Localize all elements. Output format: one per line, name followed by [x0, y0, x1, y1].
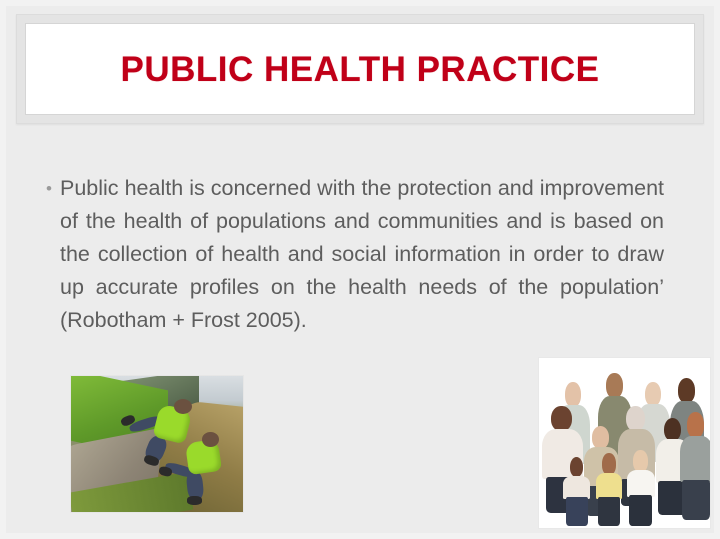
- body-content: • Public health is concerned with the pr…: [44, 172, 664, 337]
- person-head: [551, 406, 572, 431]
- body-line-1: Public health is concerned with the prot…: [60, 176, 534, 200]
- figure-head: [202, 432, 219, 447]
- person-head: [602, 453, 616, 474]
- person-head: [626, 406, 645, 432]
- title-frame: PUBLIC HEALTH PRACTICE: [16, 14, 704, 124]
- group-child: [595, 453, 622, 524]
- person-torso: [680, 436, 710, 482]
- person-head: [606, 373, 623, 398]
- figure-shoe: [187, 496, 202, 505]
- title-inner-panel: PUBLIC HEALTH PRACTICE: [25, 23, 695, 115]
- person-head: [570, 457, 584, 477]
- person-legs: [566, 497, 588, 526]
- person-torso: [596, 473, 622, 499]
- person-legs: [598, 497, 620, 526]
- runners-photo: Two people in bright green high-visibili…: [71, 376, 243, 512]
- person-legs: [682, 480, 710, 520]
- bullet-icon: •: [44, 172, 60, 205]
- person-legs: [629, 495, 652, 526]
- photo-figure-right: [160, 433, 239, 509]
- group-child: [563, 457, 590, 525]
- person-head: [687, 412, 704, 437]
- group-person-middle: [679, 412, 710, 517]
- person-torso: [627, 470, 655, 497]
- group-photo: Diverse multi-generational group of peop…: [539, 358, 710, 528]
- body-paragraph: Public health is concerned with the prot…: [60, 172, 664, 337]
- person-head: [678, 378, 695, 402]
- page-title: PUBLIC HEALTH PRACTICE: [121, 52, 600, 87]
- figure-head: [174, 399, 192, 414]
- person-head: [592, 426, 609, 449]
- person-head: [645, 382, 661, 406]
- person-head: [633, 450, 648, 472]
- person-torso: [563, 476, 589, 499]
- person-head: [565, 382, 581, 407]
- group-child: [626, 450, 655, 525]
- body-line-5: accurate profiles on the health needs of…: [96, 275, 549, 299]
- slide: PUBLIC HEALTH PRACTICE • Public health i…: [0, 0, 720, 539]
- group-photo-description: Diverse multi-generational group of peop…: [539, 358, 540, 359]
- bullet-list-item: • Public health is concerned with the pr…: [44, 172, 664, 337]
